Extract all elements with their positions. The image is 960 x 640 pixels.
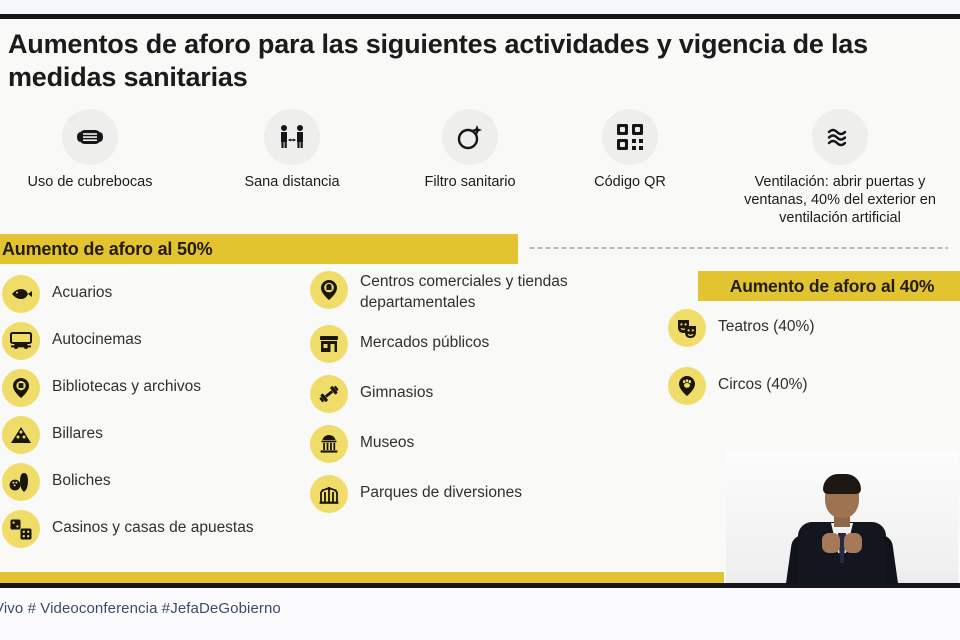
interpreter-left-hand bbox=[822, 533, 840, 553]
page-title: Aumentos de aforo para las siguientes ac… bbox=[8, 28, 908, 94]
social-distance-icon bbox=[264, 109, 320, 165]
list-item-label: Centros comerciales y tiendas departamen… bbox=[360, 271, 610, 313]
broadcast-footer: Vivo # Videoconferencia #JefaDeGobierno bbox=[0, 588, 960, 640]
list-item-label: Autocinemas bbox=[52, 322, 142, 350]
fish-icon bbox=[2, 275, 40, 313]
measure-label: Uso de cubrebocas bbox=[10, 173, 170, 191]
list-item-label: Gimnasios bbox=[360, 375, 433, 403]
sanitary-measures-row: Uso de cubrebocas bbox=[0, 109, 960, 219]
list-item-label: Mercados públicos bbox=[360, 325, 489, 353]
list-item: Billares bbox=[2, 416, 302, 454]
bowling-icon bbox=[2, 463, 40, 501]
dumbbell-icon bbox=[310, 375, 348, 413]
presentation-slide: Aumentos de aforo para las siguientes ac… bbox=[0, 19, 960, 583]
face-mask-icon bbox=[62, 109, 118, 165]
qr-code-icon bbox=[602, 109, 658, 165]
museum-icon bbox=[310, 425, 348, 463]
dotted-divider bbox=[528, 247, 948, 249]
measure-label: Código QR bbox=[550, 173, 710, 191]
banner-aforo-50: Aumento de aforo al 50% bbox=[0, 234, 518, 264]
list-item-label: Bibliotecas y archivos bbox=[52, 369, 201, 397]
activities-40-column: Teatros (40%) Circos (40%) bbox=[668, 309, 948, 425]
banner-50-label: Aumento de aforo al 50% bbox=[0, 239, 212, 260]
measure-item-filtro-sanitario: Filtro sanitario bbox=[390, 109, 550, 191]
list-item: Boliches bbox=[2, 463, 302, 501]
list-item: Autocinemas bbox=[2, 322, 302, 360]
list-item: Centros comerciales y tiendas departamen… bbox=[310, 271, 610, 313]
measure-item-sana-distancia: Sana distancia bbox=[212, 109, 372, 191]
list-item: Parques de diversiones bbox=[310, 475, 610, 513]
banner-aforo-40: Aumento de aforo al 40% bbox=[698, 271, 960, 301]
list-item-label: Acuarios bbox=[52, 275, 112, 303]
list-item: Circos (40%) bbox=[668, 367, 948, 405]
measure-item-cubrebocas: Uso de cubrebocas bbox=[10, 109, 170, 191]
list-item: Museos bbox=[310, 425, 610, 463]
list-item: Teatros (40%) bbox=[668, 309, 948, 347]
market-icon bbox=[310, 325, 348, 363]
activities-50-middle-column: Centros comerciales y tiendas departamen… bbox=[310, 271, 610, 525]
measure-label: Sana distancia bbox=[212, 173, 372, 191]
library-pin-icon bbox=[2, 369, 40, 407]
activities-50-left-column: Acuarios Autocinemas bbox=[2, 275, 302, 557]
paw-pin-icon bbox=[668, 367, 706, 405]
list-item: Gimnasios bbox=[310, 375, 610, 413]
sign-language-interpreter-video[interactable] bbox=[726, 451, 958, 583]
slide-bottom-accent-bar bbox=[0, 572, 724, 583]
measure-label: Filtro sanitario bbox=[390, 173, 550, 191]
theater-masks-icon bbox=[668, 309, 706, 347]
list-item: Casinos y casas de apuestas bbox=[2, 510, 302, 548]
interpreter-right-hand bbox=[844, 533, 862, 553]
list-item-label: Teatros (40%) bbox=[718, 309, 814, 337]
sanitary-filter-icon bbox=[442, 109, 498, 165]
measure-item-codigo-qr: Código QR bbox=[550, 109, 710, 191]
ventilation-waves-icon bbox=[812, 109, 868, 165]
dice-icon bbox=[2, 510, 40, 548]
list-item-label: Parques de diversiones bbox=[360, 475, 522, 503]
list-item-label: Billares bbox=[52, 416, 103, 444]
footer-ticker-text: Vivo # Videoconferencia #JefaDeGobierno bbox=[0, 600, 281, 617]
broadcast-screen: Aumentos de aforo para las siguientes ac… bbox=[0, 0, 960, 640]
amusement-park-icon bbox=[310, 475, 348, 513]
billiards-rack-icon bbox=[2, 416, 40, 454]
list-item: Acuarios bbox=[2, 275, 302, 313]
list-item-label: Boliches bbox=[52, 463, 111, 491]
list-item: Mercados públicos bbox=[310, 325, 610, 363]
measure-item-ventilacion: Ventilación: abrir puertas y ventanas, 4… bbox=[730, 109, 950, 227]
list-item-label: Museos bbox=[360, 425, 414, 453]
interpreter-hair bbox=[823, 474, 861, 494]
measure-label: Ventilación: abrir puertas y ventanas, 4… bbox=[730, 173, 950, 227]
list-item-label: Casinos y casas de apuestas bbox=[52, 510, 254, 538]
shopping-mall-pin-icon bbox=[310, 271, 348, 309]
interpreter-figure bbox=[782, 477, 902, 583]
list-item-label: Circos (40%) bbox=[718, 367, 808, 395]
banner-40-label: Aumento de aforo al 40% bbox=[730, 276, 934, 297]
top-letterbox-strip bbox=[0, 0, 960, 14]
drive-in-cinema-icon bbox=[2, 322, 40, 360]
list-item: Bibliotecas y archivos bbox=[2, 369, 302, 407]
